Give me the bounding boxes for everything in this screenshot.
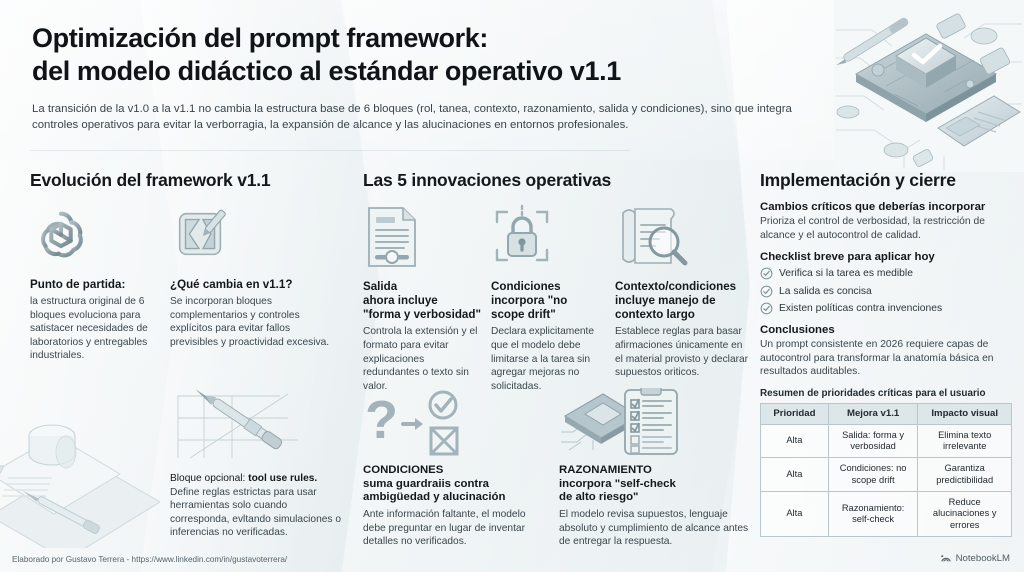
lock-scope-icon — [491, 200, 609, 274]
conclusions-title: Conclusiones — [760, 324, 1012, 336]
page-title: Optimización del prompt framework: del m… — [32, 22, 832, 88]
card-body: Declara explicitamente que el modelo deb… — [491, 325, 609, 393]
card-title: Salida ahora incluye "forma y verbosidad… — [363, 280, 483, 322]
infographic-page: Optimización del prompt framework: del m… — [0, 0, 1024, 572]
checklist-item[interactable]: La salida es concisa — [760, 285, 1012, 298]
block-checklist: Checklist breve para aplicar hoy Verific… — [760, 251, 1012, 315]
table-cell: Garantiza predictibilidad — [918, 458, 1012, 492]
card-body: Controla la extensión y el formato para … — [363, 325, 483, 393]
checklist-label: La salida es concisa — [779, 286, 872, 297]
page-title-line-2: del modelo didáctico al estándar operati… — [32, 56, 621, 86]
checklist-item[interactable]: Existen políticas contra invenciones — [760, 302, 1012, 315]
card-razonamiento-selfcheck: RAZONAMIENTO incorpora "self-check de al… — [559, 388, 749, 549]
scroll-magnifier-icon — [615, 200, 751, 274]
table-cell: Salida: forma y verbosidad — [828, 424, 918, 458]
card-title: Condiciones incorpora "no scope drift" — [491, 280, 609, 322]
section-innovaciones: Las 5 innovaciones operativas Salida aho… — [363, 170, 753, 201]
priorities-table: Prioridad Mejora v1.1 Impacto visual Alt… — [760, 403, 1012, 537]
section-implementacion: Implementación y cierre Cambios críticos… — [760, 170, 1012, 537]
desk-illustration — [0, 398, 160, 548]
check-circle-icon — [760, 285, 773, 298]
check-circle-icon — [760, 267, 773, 280]
card-body: Se incorporan bloques complementarios y … — [170, 295, 340, 349]
table-header-row: Prioridad Mejora v1.1 Impacto visual — [761, 403, 1012, 424]
table-cell: Reduce alucinaciones y errores — [918, 491, 1012, 536]
conclusions-body: Un prompt consistente en 2026 requiere c… — [760, 338, 1012, 379]
table-row: Alta Salida: forma y verbosidad Elimina … — [761, 424, 1012, 458]
block-conclusiones: Conclusiones Un prompt consistente en 20… — [760, 324, 1012, 379]
card-body: El modelo revisa supuestos, lenguaje abs… — [559, 508, 749, 549]
table-cell: Condiciones: no scope drift — [828, 458, 918, 492]
checklist: Verifica si la tarea es medible La salid… — [760, 267, 1012, 315]
card-body: Establece reglas para basar afirmaciones… — [615, 325, 751, 379]
table-cell: Elimina texto irrelevante — [918, 424, 1012, 458]
chip-clipboard-icon — [559, 388, 749, 458]
checklist-item[interactable]: Verifica si la tarea es medible — [760, 267, 1012, 280]
checklist-label: Verifica si la tarea es medible — [779, 268, 913, 279]
table-header-cell: Impacto visual — [918, 403, 1012, 424]
notebooklm-brand: NotebookLM — [940, 552, 1010, 564]
table-header-cell: Mejora v1.1 — [828, 403, 918, 424]
card-label-prefix: Bloque opcional: — [170, 473, 248, 484]
technical-pen-icon — [170, 388, 348, 466]
hero-illustration — [834, 0, 1024, 172]
table-row: Alta Condiciones: no scope drift Garanti… — [761, 458, 1012, 492]
card-body-text: Define reglas estrictas para usar herram… — [170, 487, 341, 539]
table-cell: Razonamiento: self-check — [828, 491, 918, 536]
card-title: CONDICIONES suma guardraiis contra ambig… — [363, 464, 543, 505]
document-edit-icon — [170, 198, 340, 272]
card-que-cambia: ¿Qué cambia en v1.1? Se incorporan bloqu… — [170, 198, 340, 349]
card-title: ¿Qué cambia en v1.1? — [170, 278, 340, 292]
section-heading-implementacion: Implementación y cierre — [760, 170, 1012, 191]
card-body: la estructura original de 6 bloques evol… — [30, 295, 156, 363]
section-heading-evolucion: Evolución del framework v1.1 — [30, 170, 340, 191]
section-evolucion: Evolución del framework v1.1 — [30, 170, 340, 201]
svg-text:?: ? — [365, 390, 398, 450]
card-salida: Salida ahora incluye "forma y verbosidad… — [363, 200, 483, 393]
page-subtitle: La transición de la v1.0 a la v1.1 no ca… — [32, 101, 822, 134]
block-body: Prioriza el control de verbosidad, la re… — [760, 215, 1012, 242]
card-contexto-largo: Contexto/condiciones incluye manejo de c… — [615, 200, 751, 380]
card-punto-de-partida: Punto de partida: la estructura original… — [30, 198, 156, 363]
block-title: Cambios críticos que deberías incorporar — [760, 201, 1012, 213]
header-divider — [30, 150, 630, 151]
document-slider-icon — [363, 200, 483, 274]
question-check-cross-icon: ? — [363, 388, 543, 458]
card-condiciones-guardrails: ? CONDICIONES suma guardraiis contra amb… — [363, 388, 543, 549]
table-cell: Alta — [761, 458, 829, 492]
notebooklm-label: NotebookLM — [956, 553, 1010, 564]
page-header: Optimización del prompt framework: del m… — [32, 22, 832, 134]
table-caption: Resumen de prioridades críticas para el … — [760, 388, 1012, 399]
table-header-cell: Prioridad — [761, 403, 829, 424]
block-cambios-criticos: Cambios críticos que deberías incorporar… — [760, 201, 1012, 242]
section-heading-innovaciones: Las 5 innovaciones operativas — [363, 170, 753, 191]
checklist-title: Checklist breve para aplicar hoy — [760, 251, 1012, 263]
checklist-label: Existen políticas contra invenciones — [779, 303, 942, 314]
card-body: Ante información faltante, el modelo deb… — [363, 508, 543, 549]
check-circle-icon — [760, 302, 773, 315]
notebooklm-icon — [940, 552, 952, 564]
table-cell: Alta — [761, 491, 829, 536]
footer-credit: Elaborado por Gustavo Terrera - https://… — [12, 555, 287, 564]
card-title: Contexto/condiciones incluye manejo de c… — [615, 280, 751, 322]
card-label-bold: tool use rules. — [248, 473, 317, 484]
card-title: Punto de partida: — [30, 278, 156, 292]
card-condiciones-scope: Condiciones incorpora "no scope drift" D… — [491, 200, 609, 393]
table-cell: Alta — [761, 424, 829, 458]
card-body: Bloque opcional: tool use rules. Define … — [170, 472, 348, 540]
openai-knot-icon — [30, 198, 156, 272]
table-row: Alta Razonamiento: self-check Reduce alu… — [761, 491, 1012, 536]
card-bloque-opcional: Bloque opcional: tool use rules. Define … — [170, 388, 348, 540]
page-title-line-1: Optimización del prompt framework: — [32, 23, 488, 53]
card-title: RAZONAMIENTO incorpora "self-check de al… — [559, 464, 749, 505]
